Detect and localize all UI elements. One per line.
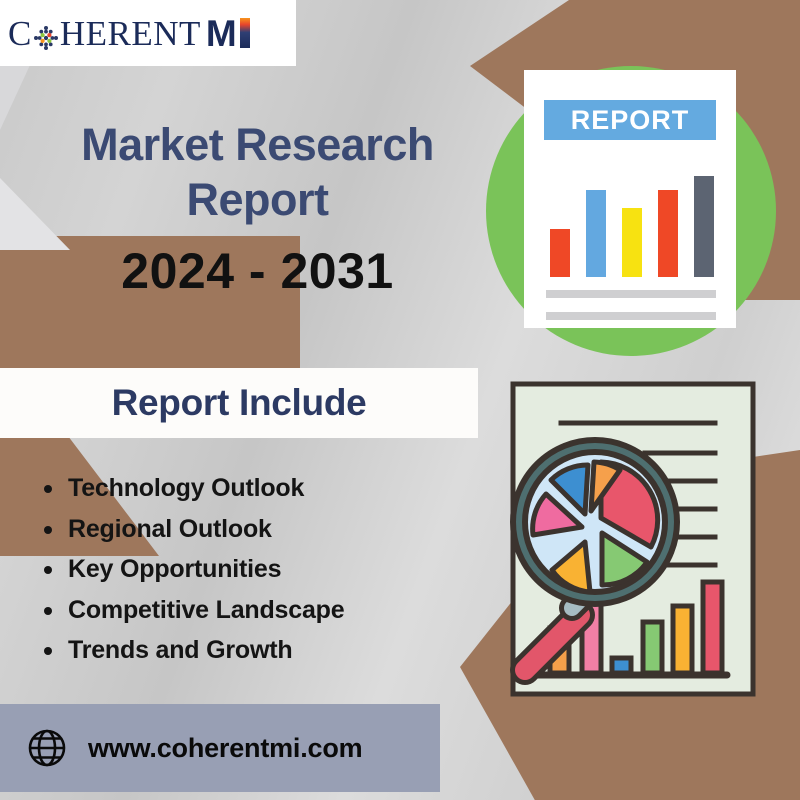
- brand-logo[interactable]: C: [0, 0, 296, 66]
- bar-6: [703, 582, 722, 673]
- website-url: www.coherentmi.com: [88, 733, 362, 764]
- bar-3: [622, 208, 642, 277]
- headline-line-2: Report: [55, 173, 460, 228]
- bar-5: [673, 606, 692, 673]
- bar-5: [694, 176, 714, 277]
- bar-1: [550, 229, 570, 277]
- logo-mi-mark: M: [206, 15, 250, 52]
- bar-2: [586, 190, 606, 277]
- bar-3: [612, 658, 631, 673]
- bar-4: [643, 622, 662, 673]
- report-card-header: REPORT: [544, 100, 716, 140]
- text-line: [546, 312, 716, 320]
- report-card-heading: REPORT: [571, 105, 690, 136]
- list-item: Technology Outlook: [34, 468, 464, 509]
- market-analysis-illustration: [430, 370, 800, 720]
- list-item: Trends and Growth: [34, 630, 464, 671]
- logo-wordmark: C: [8, 16, 201, 51]
- headline-block: Market Research Report 2024 - 2031: [55, 118, 460, 300]
- headline-line-1: Market Research: [55, 118, 460, 173]
- report-card-bar-chart: [550, 162, 716, 277]
- list-item: Key Opportunities: [34, 549, 464, 590]
- globe-icon: [26, 727, 68, 769]
- logo-letters-herent: HERENT: [60, 16, 201, 51]
- report-include-list: Technology Outlook Regional Outlook Key …: [34, 468, 464, 671]
- report-include-title: Report Include: [112, 382, 367, 424]
- headline-years: 2024 - 2031: [55, 242, 460, 300]
- website-footer-bar[interactable]: www.coherentmi.com: [0, 704, 440, 792]
- globe-dots-icon: [33, 22, 59, 48]
- text-line: [546, 290, 716, 298]
- report-card-text-lines: [546, 290, 716, 334]
- report-include-banner: Report Include: [0, 368, 478, 438]
- logo-letter-m: M: [206, 15, 237, 52]
- logo-letter-c: C: [8, 16, 32, 51]
- list-item: Competitive Landscape: [34, 590, 464, 631]
- list-item: Regional Outlook: [34, 509, 464, 550]
- report-card-illustration: REPORT: [524, 70, 736, 328]
- logo-i-bar-icon: [240, 18, 250, 48]
- promo-poster: C: [0, 0, 800, 800]
- bar-4: [658, 190, 678, 277]
